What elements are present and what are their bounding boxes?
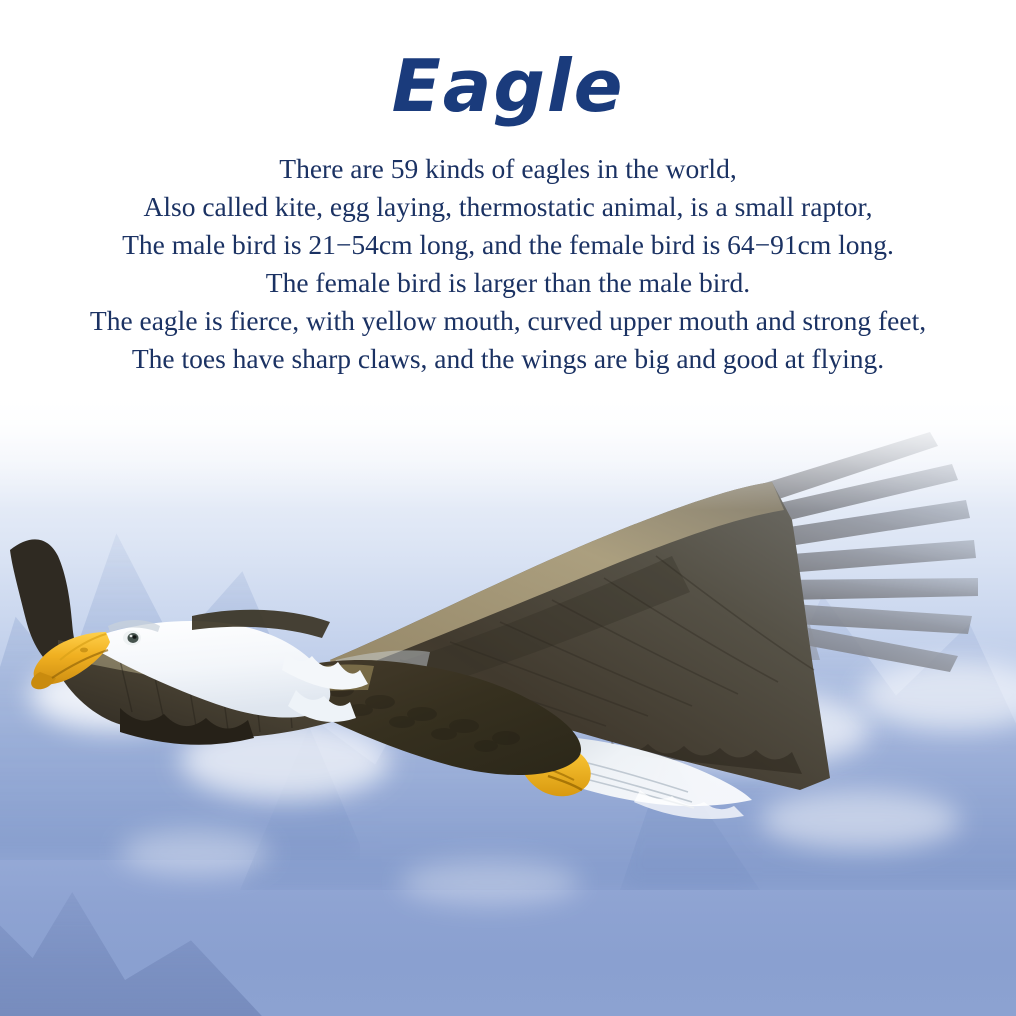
description-line: The toes have sharp claws, and the wings… xyxy=(0,340,1016,378)
description-line: Also called kite, egg laying, thermostat… xyxy=(0,188,1016,226)
description-line: There are 59 kinds of eagles in the worl… xyxy=(0,150,1016,188)
page-title: Eagle xyxy=(0,0,1016,128)
description-line: The female bird is larger than the male … xyxy=(0,264,1016,302)
description-line: The male bird is 21−54cm long, and the f… xyxy=(0,226,1016,264)
eagle-photo xyxy=(0,360,1016,1016)
eagle-poster: Eagle There are 59 kinds of eagles in th… xyxy=(0,0,1016,1016)
description-line: The eagle is fierce, with yellow mouth, … xyxy=(0,302,1016,340)
poster-text-block: Eagle There are 59 kinds of eagles in th… xyxy=(0,0,1016,420)
description-paragraph: There are 59 kinds of eagles in the worl… xyxy=(0,128,1016,378)
